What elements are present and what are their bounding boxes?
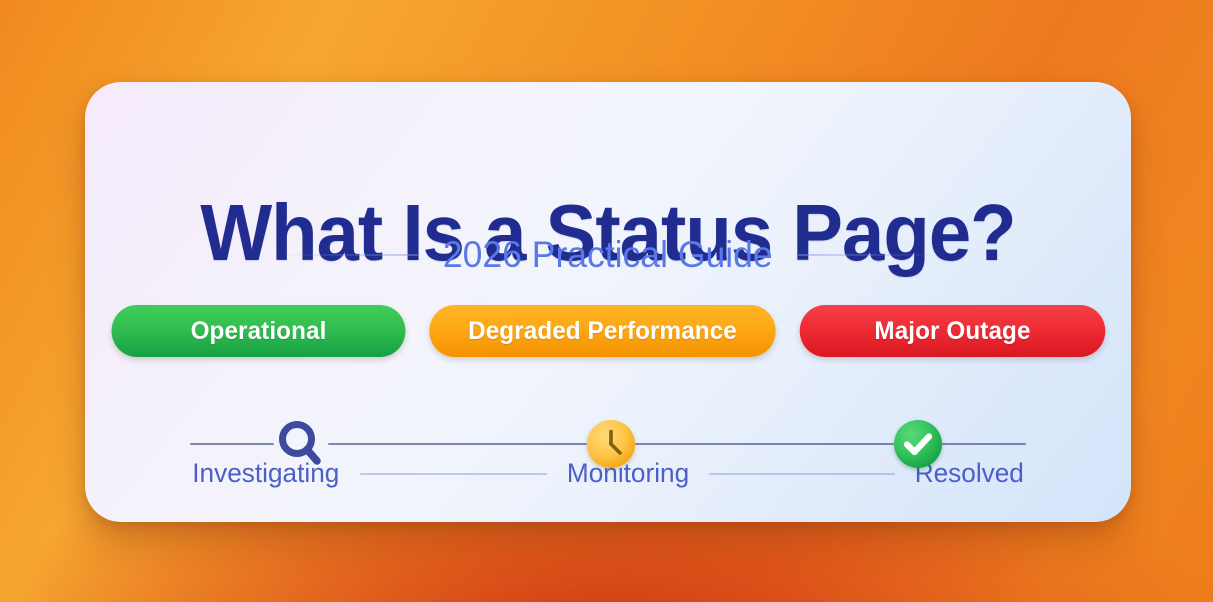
subtitle-row: 2026 Practical Guide (85, 234, 1131, 276)
timeline-segment-1 (328, 443, 587, 445)
timeline-node-monitoring[interactable] (587, 420, 635, 468)
status-pill-degraded-performance[interactable]: Degraded Performance (429, 305, 775, 357)
timeline-label-connector-1 (360, 473, 547, 475)
status-pill-operational[interactable]: Operational (111, 305, 405, 357)
poster-canvas: What Is a Status Page? 2026 Practical Gu… (0, 0, 1213, 602)
timeline-node-resolved[interactable] (894, 420, 942, 468)
timeline-node-investigating[interactable] (274, 417, 328, 471)
timeline-segment-start (190, 443, 274, 445)
subtitle-rule-left (276, 254, 418, 256)
check-circle-icon (894, 420, 942, 468)
magnifier-icon (274, 417, 328, 471)
timeline-segment-end (942, 443, 1026, 445)
timeline-track (190, 417, 1026, 471)
clock-icon (587, 420, 635, 468)
timeline-label-connector-2 (709, 473, 896, 475)
incident-timeline: Investigating Monitoring Resolved (190, 392, 1026, 502)
status-pill-major-outage[interactable]: Major Outage (799, 305, 1105, 357)
page-subtitle: 2026 Practical Guide (443, 234, 773, 276)
status-page-card: What Is a Status Page? 2026 Practical Gu… (85, 82, 1131, 522)
status-pill-group: Operational Degraded Performance Major O… (85, 305, 1131, 357)
subtitle-rule-right (798, 254, 940, 256)
timeline-segment-2 (635, 443, 894, 445)
